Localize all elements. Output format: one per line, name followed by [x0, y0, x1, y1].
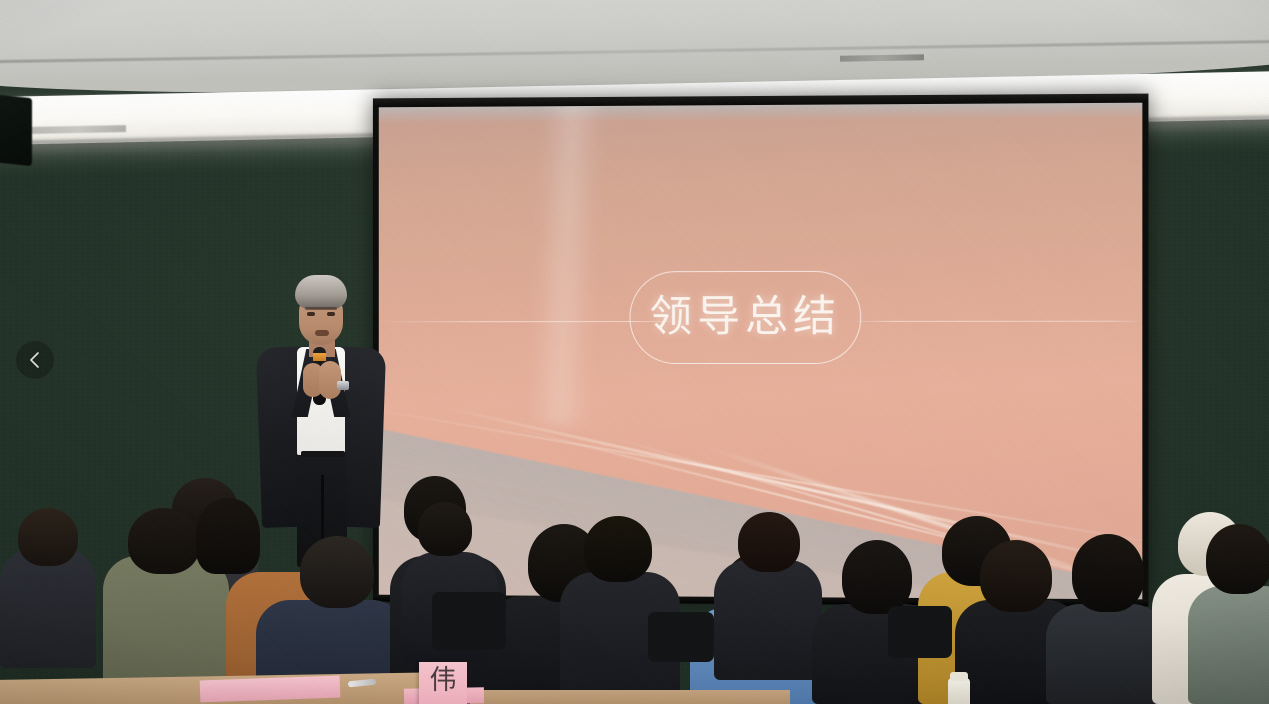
name-placard-text: 伟: [419, 667, 467, 694]
list-item: [980, 540, 1052, 612]
chair-back: [888, 606, 952, 658]
list-item: [1206, 524, 1269, 594]
chevron-left-icon: [28, 350, 42, 370]
presenter-mouth: [315, 330, 329, 336]
list-item: [418, 502, 472, 556]
water-bottle: [948, 678, 970, 704]
presenter-eye-left: [307, 312, 315, 316]
presenter-hand-right: [319, 361, 341, 399]
list-item: [1046, 604, 1166, 704]
list-item: [584, 516, 652, 582]
list-item: [128, 508, 200, 574]
list-item: [300, 536, 374, 608]
list-item: [1072, 534, 1144, 612]
chair-back: [648, 612, 714, 662]
list-item: [714, 560, 822, 680]
presenter-hair: [295, 275, 347, 309]
previous-image-button[interactable]: [16, 341, 54, 379]
photo-viewer-stage: 领导总结: [0, 0, 1269, 704]
microphone-band: [313, 353, 326, 361]
water-bottle-cap: [950, 672, 968, 681]
list-item: [18, 508, 78, 566]
presenter-brow: [305, 307, 337, 310]
slide-title-pill: 领导总结: [629, 271, 861, 364]
slide-title: 领导总结: [649, 296, 841, 339]
list-item: [196, 498, 260, 574]
name-placard: 伟: [419, 662, 467, 704]
list-item: [738, 512, 800, 572]
list-item: [842, 540, 912, 614]
presenter: [253, 275, 385, 575]
presenter-eye-right: [327, 312, 335, 316]
list-item: [0, 548, 96, 668]
list-item: [1188, 586, 1269, 704]
presenter-wristwatch: [337, 381, 349, 390]
screen-top-glow: [379, 103, 1143, 123]
projector-glare: [529, 103, 603, 426]
chair-back: [432, 592, 506, 650]
meeting-table-center: [470, 690, 790, 704]
wall-speaker-device: [0, 94, 32, 166]
